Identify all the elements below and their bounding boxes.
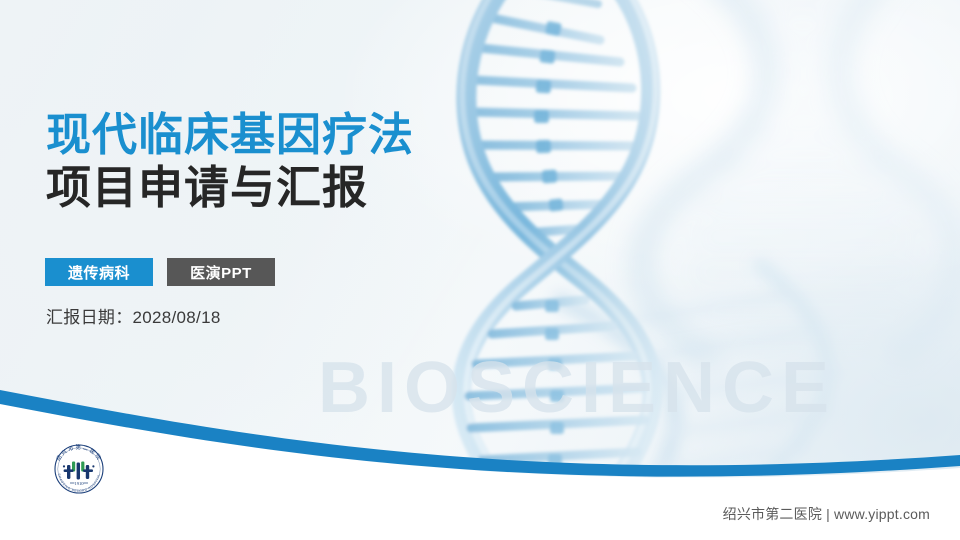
badge-department[interactable]: 遗传病科 xyxy=(45,258,153,286)
presentation-title-slide: BIOSCIENCE 现代临床基因疗法 项目申请与汇报 遗传病科 医演PPT 汇… xyxy=(0,0,960,540)
badge-row: 遗传病科 医演PPT xyxy=(45,258,275,286)
title-line-secondary: 项目申请与汇报 xyxy=(46,161,476,214)
report-date: 汇报日期：2028/08/18 xyxy=(46,303,221,328)
title-line-primary: 现代临床基因疗法 xyxy=(46,108,476,161)
hospital-seal-icon: 绍兴市第二医院 1910 SHAOXI xyxy=(47,437,111,501)
hospital-logo: 绍兴市第二医院 1910 SHAOXI xyxy=(47,437,111,501)
footer-credit: 绍兴市第二医院 | www.yippt.com xyxy=(723,504,930,524)
badge-brand[interactable]: 医演PPT xyxy=(167,258,275,286)
page-title: 现代临床基因疗法 项目申请与汇报 xyxy=(46,108,476,214)
logo-year-text: 1910 xyxy=(74,481,84,486)
